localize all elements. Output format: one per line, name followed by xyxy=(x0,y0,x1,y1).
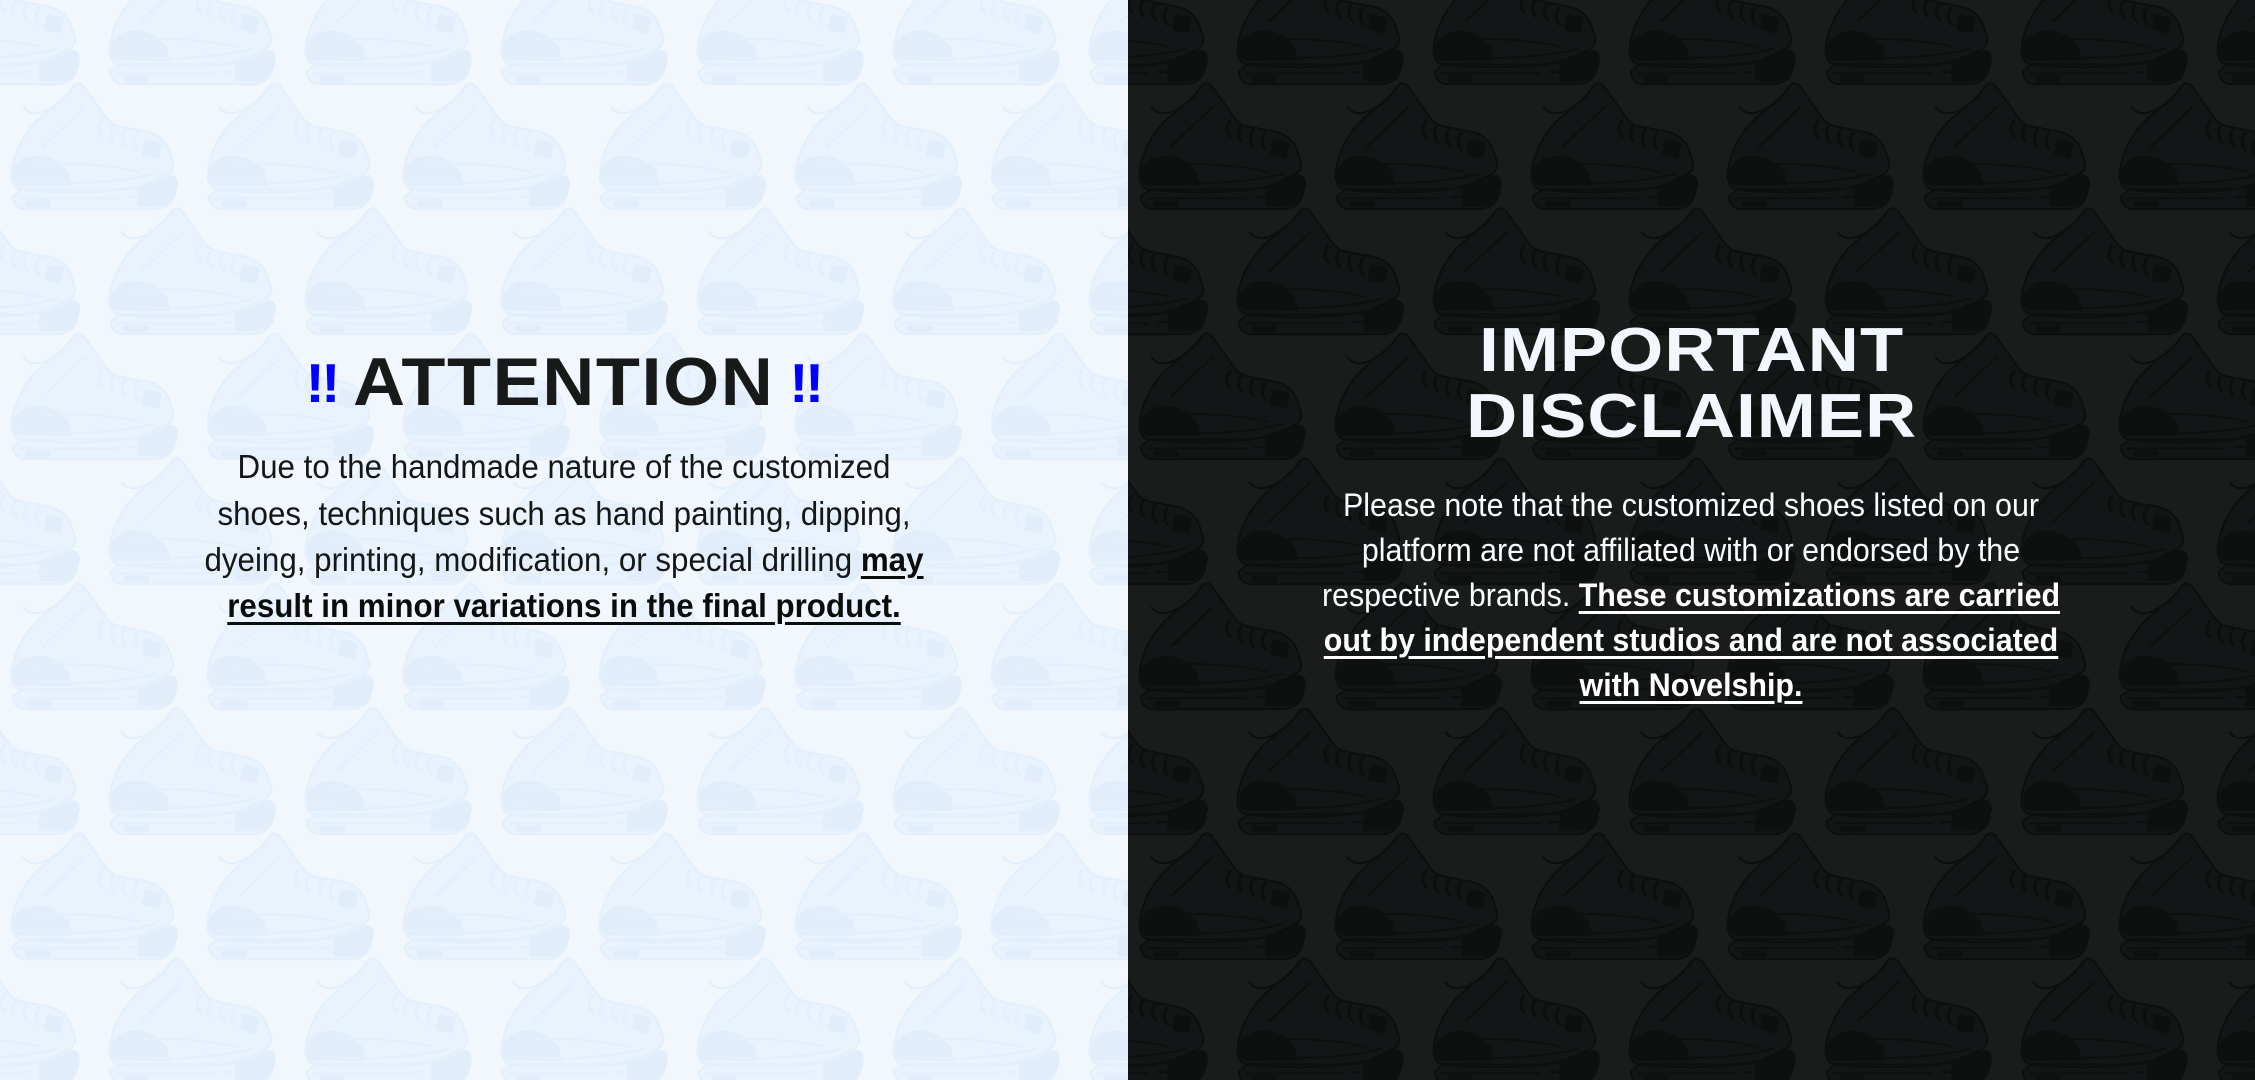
disclaimer-body: Please note that the customized shoes li… xyxy=(1308,483,2075,707)
disclaimer-panel: IMPORTANTDISCLAIMER Please note that the… xyxy=(1128,0,2255,1080)
disclaimer-content: IMPORTANTDISCLAIMER Please note that the… xyxy=(1128,318,2255,708)
double-exclamation-icon-right: ‼ xyxy=(789,353,822,414)
attention-headline: ‼ATTENTION‼ xyxy=(0,348,1128,417)
attention-panel: ‼ATTENTION‼ Due to the handmade nature o… xyxy=(0,0,1128,1080)
disclaimer-headline-line1: IMPORTANT xyxy=(1479,316,1904,385)
attention-body-normal: Due to the handmade nature of the custom… xyxy=(204,449,910,578)
double-exclamation-icon-left: ‼ xyxy=(306,353,339,414)
disclaimer-headline: IMPORTANTDISCLAIMER xyxy=(1128,318,2255,449)
attention-body: Due to the handmade nature of the custom… xyxy=(190,445,938,630)
attention-content: ‼ATTENTION‼ Due to the handmade nature o… xyxy=(0,348,1128,630)
attention-headline-word: ATTENTION xyxy=(338,344,789,420)
split-banner: ‼ATTENTION‼ Due to the handmade nature o… xyxy=(0,0,2255,1080)
disclaimer-headline-line2: DISCLAIMER xyxy=(1466,382,1917,451)
